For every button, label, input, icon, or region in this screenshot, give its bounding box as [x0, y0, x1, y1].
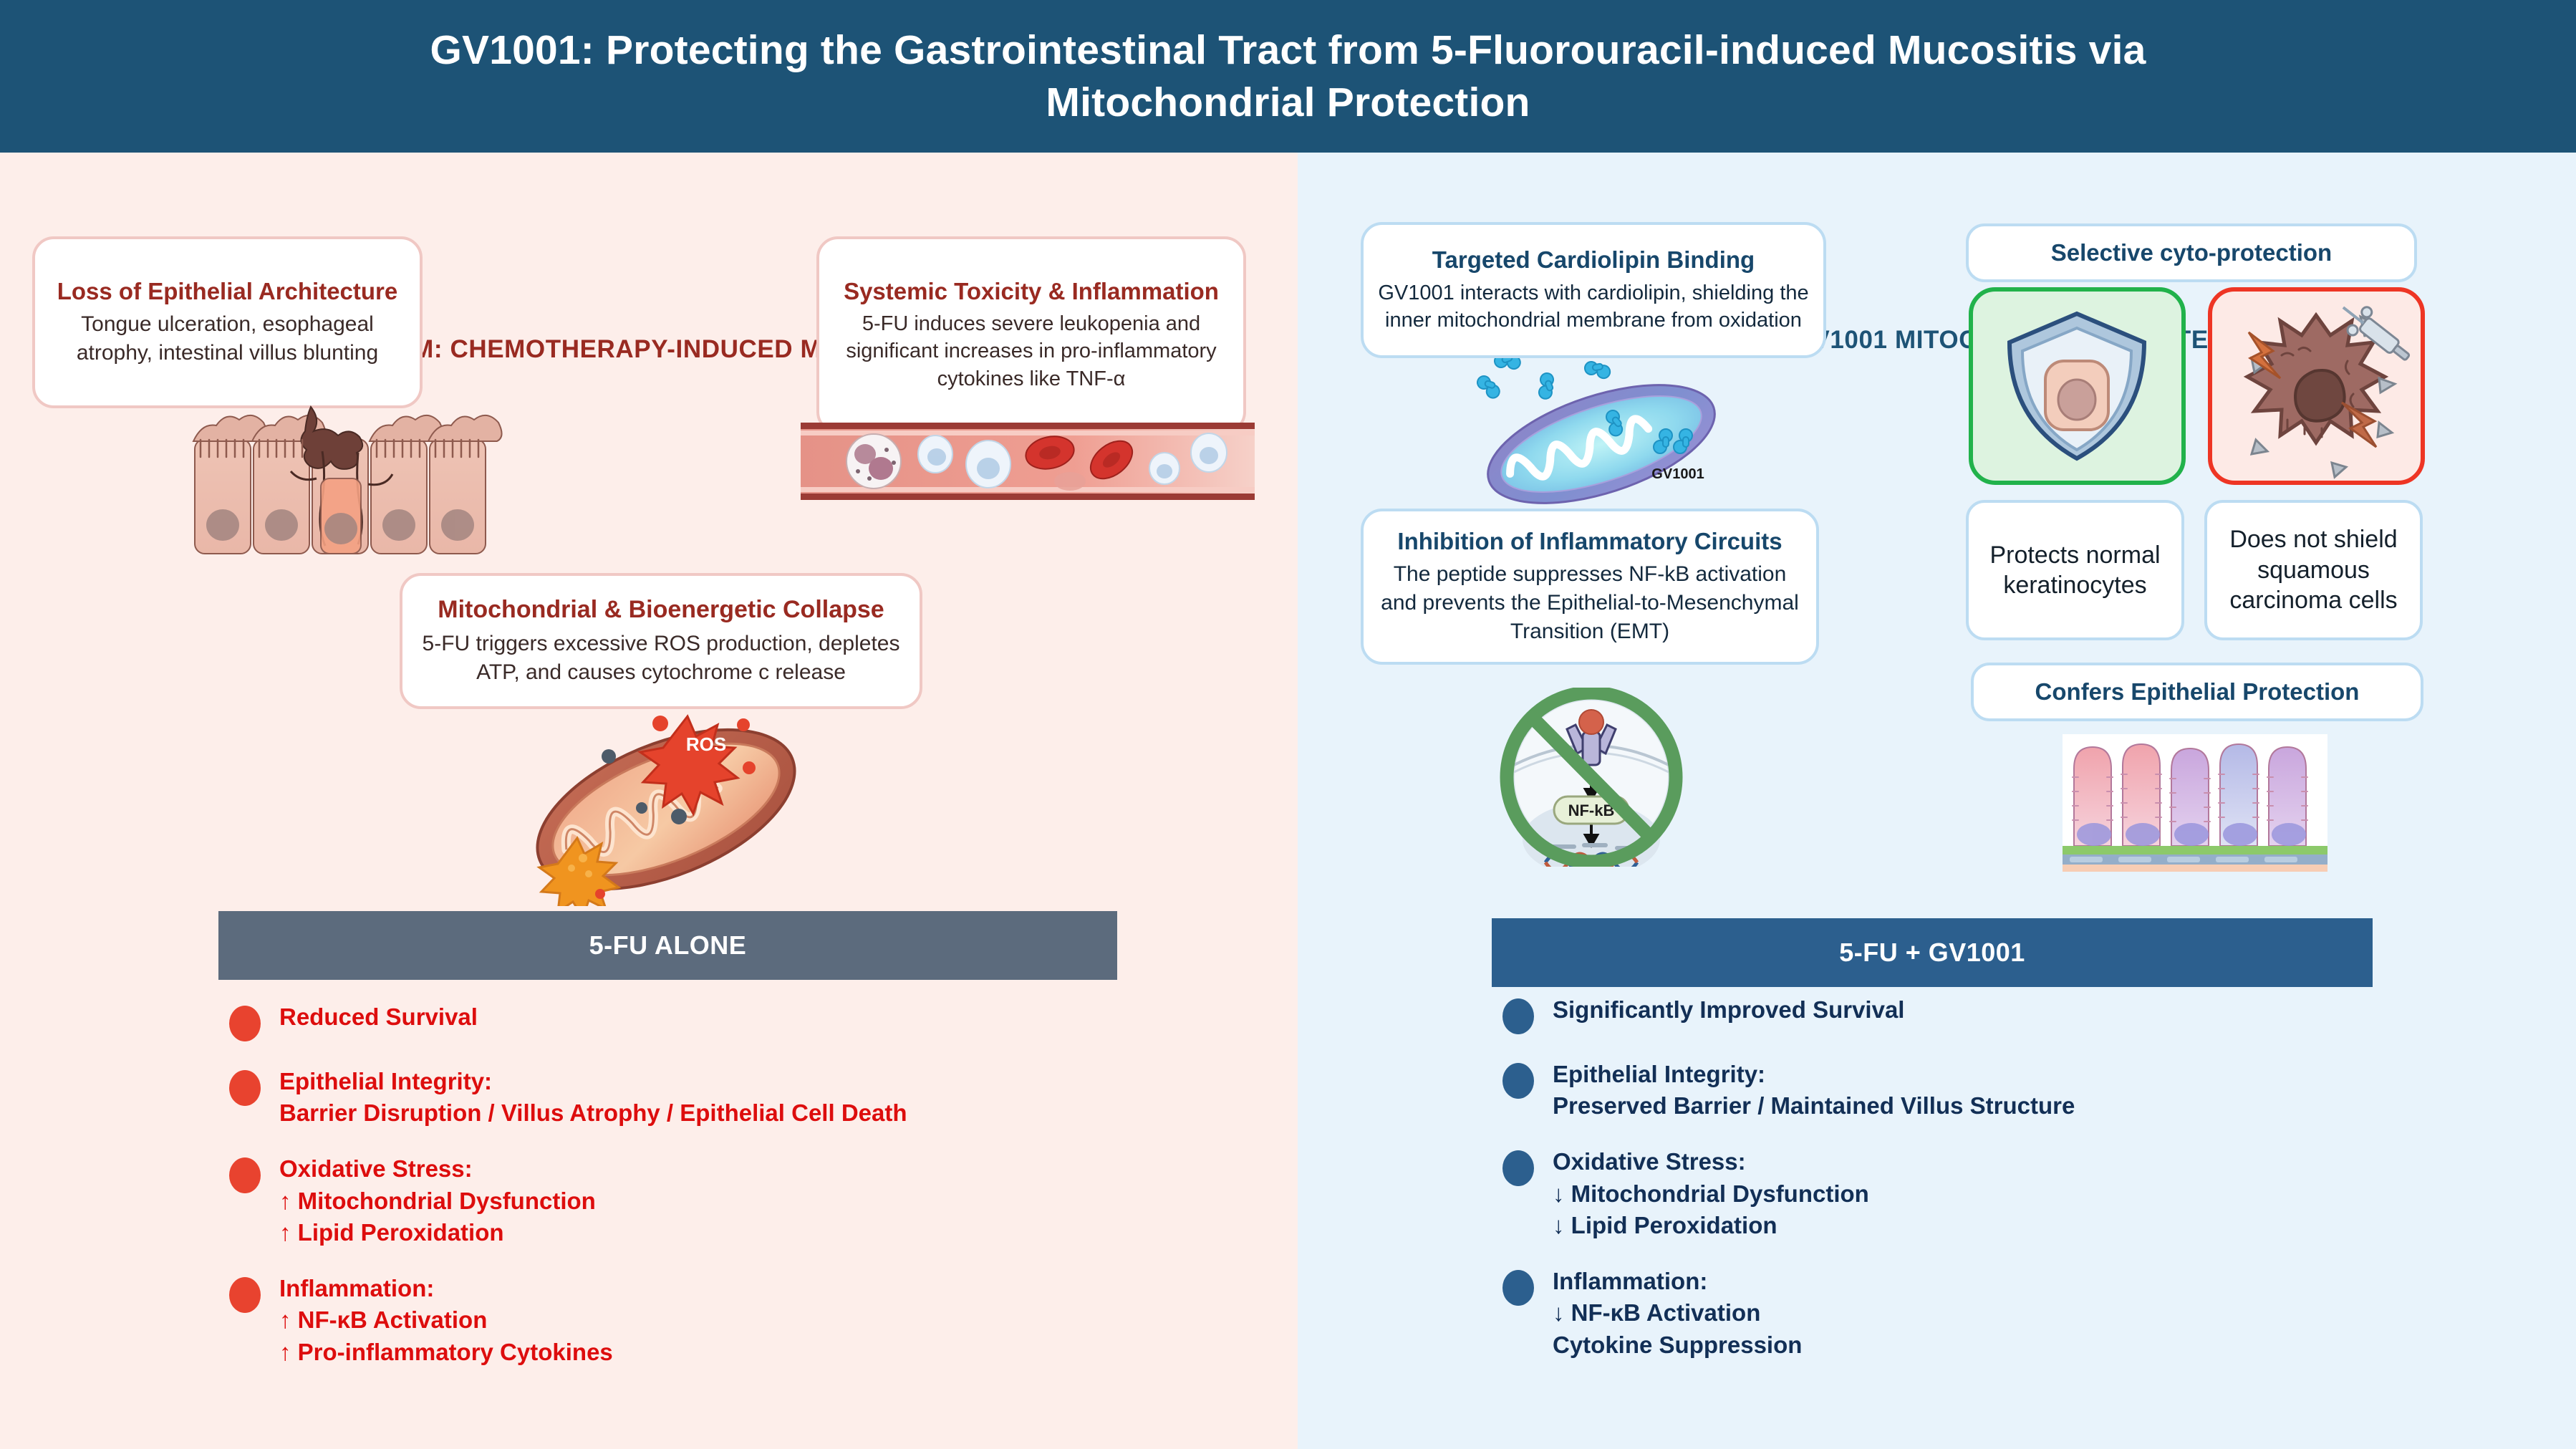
pill-label: Confers Epithelial Protection: [2035, 678, 2360, 706]
outcome-line: Reduced Survival: [279, 1001, 478, 1033]
list-item: Oxidative Stress: ↓ Mitochondrial Dysfun…: [1502, 1146, 2448, 1241]
list-item: Significantly Improved Survival: [1502, 994, 2448, 1034]
shielded-normal-cell-illustration: [1968, 287, 2186, 486]
healthy-villi-illustration: [2063, 734, 2327, 872]
pill-confers-epithelial-protection: Confers Epithelial Protection: [1971, 663, 2423, 721]
outcome-line: Oxidative Stress:: [279, 1153, 596, 1185]
bar-label: 5-FU + GV1001: [1839, 938, 2025, 968]
outcome-line: Inflammation:: [279, 1273, 613, 1304]
box-label: Protects normal keratinocytes: [1976, 540, 2174, 601]
outcome-line: Inflammation:: [1553, 1266, 1802, 1297]
card-body: Tongue ulceration, esophageal atrophy, i…: [49, 310, 405, 367]
outcome-line: ↓ Lipid Peroxidation: [1553, 1210, 1869, 1241]
bullet-dot-icon: [229, 1070, 261, 1106]
card-mitochondrial-bioenergetic-collapse: Mitochondrial & Bioenergetic Collapse 5-…: [400, 573, 922, 709]
pill-label: Selective cyto-protection: [2051, 239, 2332, 266]
card-body: The peptide suppresses NF-kB activation …: [1378, 560, 1802, 646]
outcomes-list-5fu-alone: Reduced Survival Epithelial Integrity: B…: [229, 1001, 1174, 1392]
bullet-dot-icon: [1502, 1063, 1534, 1099]
bullet-dot-icon: [1502, 1270, 1534, 1306]
card-title: Targeted Cardiolipin Binding: [1378, 246, 1809, 274]
destroyed-carcinoma-cell-illustration: [2207, 287, 2426, 486]
card-inhibition-of-inflammatory-circuits: Inhibition of Inflammatory Circuits The …: [1361, 509, 1819, 665]
page-title: GV1001: Protecting the Gastrointestinal …: [322, 24, 2255, 129]
card-targeted-cardiolipin-binding: Targeted Cardiolipin Binding GV1001 inte…: [1361, 222, 1826, 358]
list-item: Inflammation: ↓ NF-κB Activation Cytokin…: [1502, 1266, 2448, 1361]
card-title: Systemic Toxicity & Inflammation: [834, 277, 1229, 306]
list-item: Epithelial Integrity: Preserved Barrier …: [1502, 1059, 2448, 1122]
comparison-bar-5fu-alone: 5-FU ALONE: [218, 911, 1117, 980]
outcome-line: ↑ Mitochondrial Dysfunction: [279, 1185, 596, 1217]
bullet-dot-icon: [229, 1006, 261, 1041]
outcome-line: ↑ Lipid Peroxidation: [279, 1217, 596, 1248]
list-item: Oxidative Stress: ↑ Mitochondrial Dysfun…: [229, 1153, 1174, 1248]
box-does-not-shield-carcinoma-cells: Does not shield squamous carcinoma cells: [2204, 500, 2423, 640]
ros-label: ROS: [686, 733, 726, 755]
comparison-bar-5fu-gv1001: 5-FU + GV1001: [1492, 918, 2373, 987]
card-systemic-toxicity-inflammation: Systemic Toxicity & Inflammation 5-FU in…: [816, 236, 1246, 433]
list-item: Epithelial Integrity: Barrier Disruption…: [229, 1066, 1174, 1129]
card-title: Loss of Epithelial Architecture: [49, 277, 405, 306]
title-bar: GV1001: Protecting the Gastrointestinal …: [0, 0, 2576, 153]
outcome-line: Epithelial Integrity:: [279, 1066, 907, 1097]
bar-label: 5-FU ALONE: [589, 930, 747, 961]
card-body: GV1001 interacts with cardiolipin, shiel…: [1378, 279, 1809, 334]
outcome-line: ↑ NF-κB Activation: [279, 1304, 613, 1336]
card-loss-of-epithelial-architecture: Loss of Epithelial Architecture Tongue u…: [32, 236, 423, 408]
outcome-line: Preserved Barrier / Maintained Villus St…: [1553, 1090, 2075, 1122]
bullet-dot-icon: [229, 1157, 261, 1193]
card-title: Mitochondrial & Bioenergetic Collapse: [417, 595, 905, 625]
card-body: 5-FU induces severe leukopenia and signi…: [834, 310, 1229, 393]
outcome-line: Cytokine Suppression: [1553, 1329, 1802, 1361]
outcome-line: Epithelial Integrity:: [1553, 1059, 2075, 1090]
damaged-epithelium-illustration: [180, 400, 503, 564]
blood-vessel-leukocytes-illustration: [801, 415, 1255, 509]
outcome-line: Significantly Improved Survival: [1553, 994, 1904, 1026]
card-body: 5-FU triggers excessive ROS production, …: [417, 630, 905, 687]
pill-selective-cyto-protection: Selective cyto-protection: [1966, 223, 2417, 282]
bullet-dot-icon: [229, 1277, 261, 1313]
infographic-root: GV1001: Protecting the Gastrointestinal …: [0, 0, 2576, 1449]
list-item: Reduced Survival: [229, 1001, 1174, 1041]
damaged-mitochondrion-illustration: ROS: [508, 702, 824, 906]
outcome-line: ↓ NF-κB Activation: [1553, 1297, 1802, 1329]
box-protects-normal-keratinocytes: Protects normal keratinocytes: [1966, 500, 2184, 640]
list-item: Inflammation: ↑ NF-κB Activation ↑ Pro-i…: [229, 1273, 1174, 1368]
outcome-line: ↑ Pro-inflammatory Cytokines: [279, 1337, 613, 1368]
card-title: Inhibition of Inflammatory Circuits: [1378, 527, 1802, 556]
nfkb-label: NF-kB: [1568, 801, 1615, 819]
gv1001-label: GV1001: [1651, 466, 1704, 482]
outcomes-list-5fu-gv1001: Significantly Improved Survival Epitheli…: [1502, 994, 2448, 1385]
nfkb-inhibition-illustration: NF-kB: [1477, 688, 1706, 867]
outcome-line: Barrier Disruption / Villus Atrophy / Ep…: [279, 1097, 907, 1129]
box-label: Does not shield squamous carcinoma cells: [2214, 524, 2413, 616]
outcome-line: Oxidative Stress:: [1553, 1146, 1869, 1178]
bullet-dot-icon: [1502, 1150, 1534, 1186]
healthy-mitochondrion-illustration: GV1001: [1458, 358, 1745, 512]
outcome-line: ↓ Mitochondrial Dysfunction: [1553, 1178, 1869, 1210]
bullet-dot-icon: [1502, 998, 1534, 1034]
